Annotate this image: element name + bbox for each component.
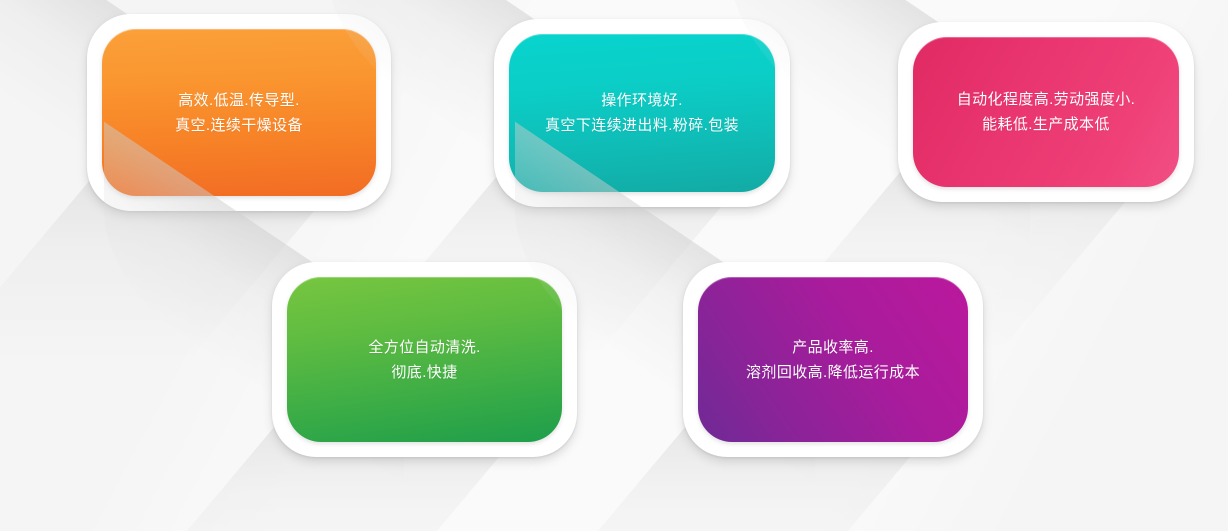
card-color-panel: 自动化程度高.劳动强度小. 能耗低.生产成本低 [913,37,1179,187]
card-color-panel: 产品收率高. 溶剂回收高.降低运行成本 [698,277,968,442]
card-color-panel: 全方位自动清洗. 彻底.快捷 [287,277,562,442]
card-label: 产品收率高. 溶剂回收高.降低运行成本 [736,335,930,385]
feature-card-automation[interactable]: 自动化程度高.劳动强度小. 能耗低.生产成本低 [898,22,1194,202]
infographic-canvas: 高效.低温.传导型. 真空.连续干燥设备 操作环境好. 真空下连续进出料.粉碎.… [0,0,1228,531]
feature-card-efficiency[interactable]: 高效.低温.传导型. 真空.连续干燥设备 [87,14,391,211]
card-color-panel: 操作环境好. 真空下连续进出料.粉碎.包装 [509,34,775,192]
feature-card-environment[interactable]: 操作环境好. 真空下连续进出料.粉碎.包装 [494,19,790,207]
card-label: 高效.低温.传导型. 真空.连续干燥设备 [165,88,313,138]
card-label: 全方位自动清洗. 彻底.快捷 [358,335,490,385]
card-color-panel: 高效.低温.传导型. 真空.连续干燥设备 [102,29,376,196]
card-label: 自动化程度高.劳动强度小. 能耗低.生产成本低 [947,87,1146,137]
card-label: 操作环境好. 真空下连续进出料.粉碎.包装 [535,88,749,138]
feature-card-yield[interactable]: 产品收率高. 溶剂回收高.降低运行成本 [683,262,983,457]
feature-card-cleaning[interactable]: 全方位自动清洗. 彻底.快捷 [272,262,577,457]
